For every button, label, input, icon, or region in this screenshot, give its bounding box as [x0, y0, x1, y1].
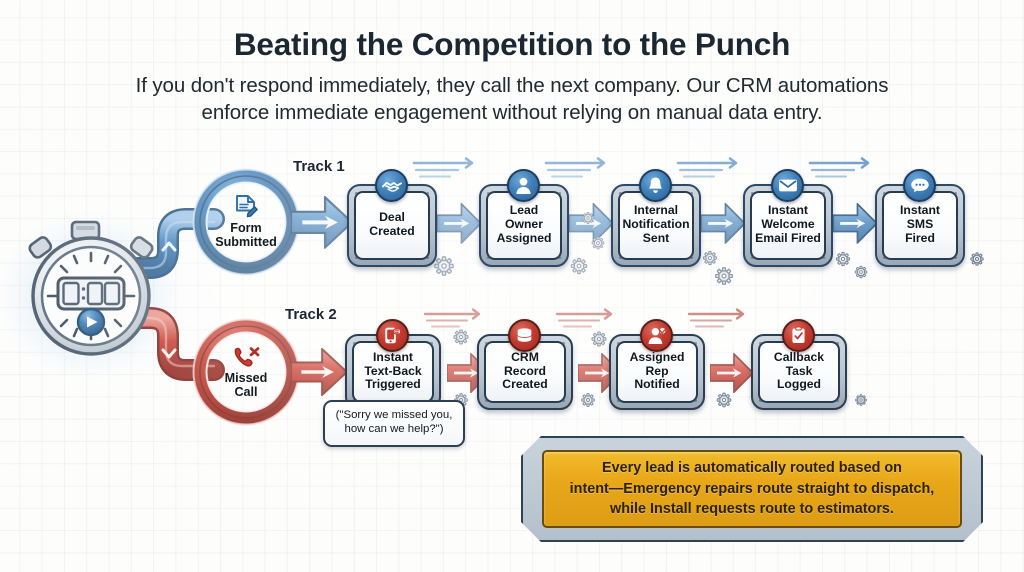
- entry-node-label: Missed Call: [225, 372, 268, 400]
- node-label-line-1: Lead: [497, 204, 552, 218]
- screw-dot: [353, 342, 356, 345]
- screw-dot: [558, 256, 561, 259]
- node-label: Lead Owner Assigned: [497, 204, 552, 246]
- screw-dot: [430, 342, 433, 345]
- page-subtitle: If you don't respond immediately, they c…: [72, 72, 952, 126]
- node-label-line-2: Notification: [622, 218, 689, 232]
- screw-dot: [954, 192, 957, 195]
- screw-dot: [355, 192, 358, 195]
- node-label-line-2: Created: [369, 225, 414, 239]
- node-label-line-1: Instant: [364, 351, 421, 365]
- node-label: Instant SMS Fired: [900, 204, 940, 246]
- callout-line-1: ("Sorry we missed you,: [331, 409, 457, 423]
- phone-missed-call-icon: [232, 344, 260, 370]
- entry-node-missed-call[interactable]: Missed Call: [199, 325, 293, 419]
- screw-dot: [619, 192, 622, 195]
- node-label: Assigned Rep Notified: [621, 351, 693, 393]
- screw-dot: [619, 256, 622, 259]
- node-label-line-1: Instant: [755, 204, 821, 218]
- node-label-line-2: Created: [489, 378, 561, 392]
- track2-motion-lines: [425, 310, 743, 327]
- chat-bubble-sms-icon: [903, 169, 936, 202]
- node-label-line-1: Deal: [369, 211, 414, 225]
- entry-label-line-2: Call: [225, 386, 268, 400]
- node-label-line-2: SMS: [900, 218, 940, 232]
- screw-dot: [558, 192, 561, 195]
- handshake-icon: [375, 169, 408, 202]
- screw-dot: [751, 192, 754, 195]
- clipboard-check-icon: [782, 319, 815, 352]
- screw-dot: [355, 256, 358, 259]
- database-icon: [508, 319, 541, 352]
- form-document-pencil-icon: [234, 194, 259, 220]
- subtitle-line-2: enforce immediate engagement without rel…: [72, 99, 952, 126]
- node-label-line-1: Callback: [763, 351, 835, 365]
- user-person-icon: [507, 169, 540, 202]
- person-badge-icon: [640, 319, 673, 352]
- node-label-line-3: Sent: [622, 232, 689, 246]
- screw-dot: [954, 256, 957, 259]
- node-label-line-1: Instant: [900, 204, 940, 218]
- text-back-message-callout: ("Sorry we missed you, how can we help?"…: [323, 400, 465, 447]
- routing-callout: Every lead is automatically routed based…: [521, 436, 983, 542]
- entry-node-form-submitted[interactable]: Form Submitted: [199, 175, 293, 269]
- screw-dot: [426, 192, 429, 195]
- node-label-line-2: Owner: [497, 218, 552, 232]
- screw-dot: [562, 399, 565, 402]
- entry-node-label: Form Submitted: [215, 222, 277, 250]
- track1-label: Track 1: [293, 158, 345, 175]
- entry-label-line-2: Submitted: [215, 236, 277, 250]
- callout-text: ("Sorry we missed you, how can we help?"…: [331, 409, 457, 437]
- screw-dot: [836, 342, 839, 345]
- entry-label-line-1: Form: [215, 222, 277, 236]
- node-label-line-2: Welcome: [755, 218, 821, 232]
- screw-dot: [487, 192, 490, 195]
- node-label-line-3: Fired: [900, 232, 940, 246]
- node-label-line-2: Text-Back: [364, 365, 421, 379]
- node-label-line-2: Notified: [621, 378, 693, 392]
- node-label: Instant Text-Back Triggered: [364, 351, 421, 393]
- screw-dot: [836, 399, 839, 402]
- routing-callout-text: Every lead is automatically routed based…: [570, 458, 935, 519]
- screw-dot: [617, 342, 620, 345]
- bell-notification-icon: [639, 169, 672, 202]
- screw-dot: [822, 256, 825, 259]
- screw-dot: [883, 256, 886, 259]
- node-label-line-1: Assigned Rep: [621, 351, 693, 379]
- routing-line-2: intent—Emergency repairs route straight …: [570, 479, 935, 499]
- node-label-line-1: CRM Record: [489, 351, 561, 379]
- screw-dot: [562, 342, 565, 345]
- screw-dot: [694, 399, 697, 402]
- header: Beating the Competition to the Punch If …: [0, 0, 1024, 126]
- screw-dot: [487, 256, 490, 259]
- node-label-line-1: Internal: [622, 204, 689, 218]
- track2-label: Track 2: [285, 306, 337, 323]
- node-label: CRM Record Created: [489, 351, 561, 393]
- routing-line-1: Every lead is automatically routed based…: [570, 458, 935, 478]
- node-label-line-2: Task Logged: [763, 365, 835, 393]
- screw-dot: [694, 342, 697, 345]
- node-label: Deal Created: [369, 211, 414, 239]
- screw-dot: [759, 399, 762, 402]
- node-label-line-3: Assigned: [497, 232, 552, 246]
- screw-dot: [751, 256, 754, 259]
- node-label-line-3: Triggered: [364, 378, 421, 392]
- screw-dot: [485, 342, 488, 345]
- node-label: Internal Notification Sent: [622, 204, 689, 246]
- screw-dot: [690, 192, 693, 195]
- stopwatch-icon: [28, 222, 154, 354]
- entry-label-line-1: Missed: [225, 372, 268, 386]
- subtitle-line-1: If you don't respond immediately, they c…: [72, 72, 952, 99]
- screw-dot: [485, 399, 488, 402]
- screw-dot: [426, 256, 429, 259]
- routing-line-3: while Install requests route to estimato…: [570, 499, 935, 519]
- node-label: Callback Task Logged: [763, 351, 835, 393]
- screw-dot: [822, 192, 825, 195]
- screw-dot: [759, 342, 762, 345]
- envelope-email-icon: [771, 169, 804, 202]
- screw-dot: [617, 399, 620, 402]
- routing-callout-plate: Every lead is automatically routed based…: [542, 450, 962, 528]
- callout-line-2: how can we help?"): [331, 423, 457, 437]
- node-label-line-3: Email Fired: [755, 232, 821, 246]
- screw-dot: [690, 256, 693, 259]
- screw-dot: [883, 192, 886, 195]
- node-label: Instant Welcome Email Fired: [755, 204, 821, 246]
- page-title: Beating the Competition to the Punch: [0, 26, 1024, 63]
- phone-message-icon: [376, 319, 409, 352]
